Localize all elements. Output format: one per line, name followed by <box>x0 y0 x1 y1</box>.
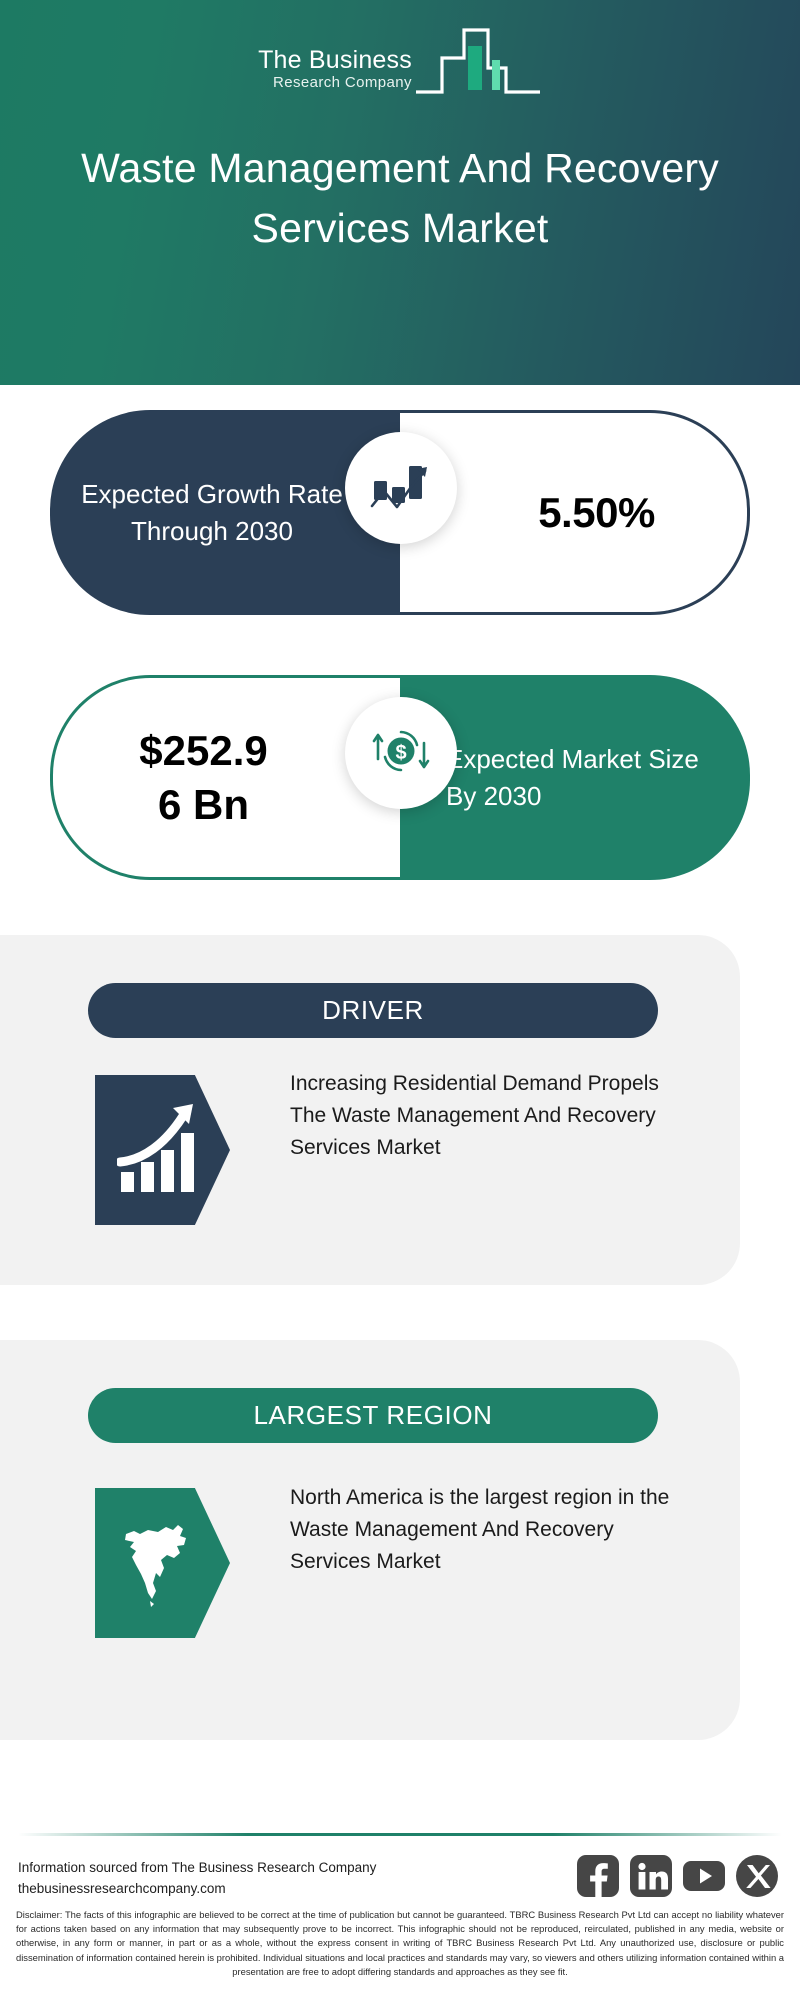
stat-marketsize-label-panel: Expected Market Size By 2030 <box>400 675 750 880</box>
panel-driver-icon-shape <box>95 1075 230 1225</box>
disclaimer-text: Disclaimer: The facts of this infographi… <box>16 1908 784 1979</box>
panel-region-icon-shape <box>95 1488 230 1638</box>
stat-marketsize-value: $252.96 Bn <box>77 724 377 832</box>
footer-divider <box>18 1833 782 1836</box>
brand-logo-text: The Business Research Company <box>258 47 412 96</box>
social-links <box>577 1855 778 1897</box>
svg-text:$: $ <box>395 742 406 764</box>
brand-logo-bars-icon <box>414 24 542 96</box>
page-title: Waste Management And Recovery Services M… <box>0 138 800 258</box>
panel-region-pill: LARGEST REGION <box>88 1388 658 1443</box>
panel-largest-region: LARGEST REGION North America is the larg… <box>0 1340 740 1740</box>
x-twitter-icon[interactable] <box>736 1855 778 1897</box>
youtube-icon[interactable] <box>683 1855 725 1897</box>
panel-driver-pill: DRIVER <box>88 983 658 1038</box>
dollar-cycle-icon: $ <box>368 719 434 788</box>
stat-marketsize-value-panel: $252.96 Bn <box>50 675 400 880</box>
stat-card-market-size: $252.96 Bn Expected Market Size By 2030 … <box>50 675 750 880</box>
panel-region-text: North America is the largest region in t… <box>290 1482 690 1578</box>
panel-driver: DRIVER Increasing Residential Demand Pro… <box>0 935 740 1285</box>
footer-source-line1: Information sourced from The Business Re… <box>18 1857 376 1878</box>
bar-chart-growth-icon <box>370 457 432 520</box>
growth-arrow-chart-icon <box>117 1100 209 1201</box>
header-banner: The Business Research Company Waste Mana… <box>0 0 800 385</box>
stat-growth-value-panel: 5.50% <box>400 410 750 615</box>
brand-logo: The Business Research Company <box>0 24 800 96</box>
linkedin-icon[interactable] <box>630 1855 672 1897</box>
brand-logo-line1: The Business <box>258 47 412 74</box>
stat-marketsize-badge: $ <box>345 697 457 809</box>
brand-logo-line2: Research Company <box>258 74 412 92</box>
stat-growth-label-panel: Expected Growth Rate Through 2030 <box>50 410 400 615</box>
stat-card-growth-rate: Expected Growth Rate Through 2030 5.50% <box>50 410 750 615</box>
stat-growth-value: 5.50% <box>492 489 655 537</box>
north-america-map-icon <box>120 1513 206 1614</box>
footer-source: Information sourced from The Business Re… <box>18 1857 376 1899</box>
footer-source-line2[interactable]: thebusinessresearchcompany.com <box>18 1878 376 1899</box>
panel-driver-text: Increasing Residential Demand Propels Th… <box>290 1068 690 1164</box>
facebook-icon[interactable] <box>577 1855 619 1897</box>
stat-growth-badge <box>345 432 457 544</box>
